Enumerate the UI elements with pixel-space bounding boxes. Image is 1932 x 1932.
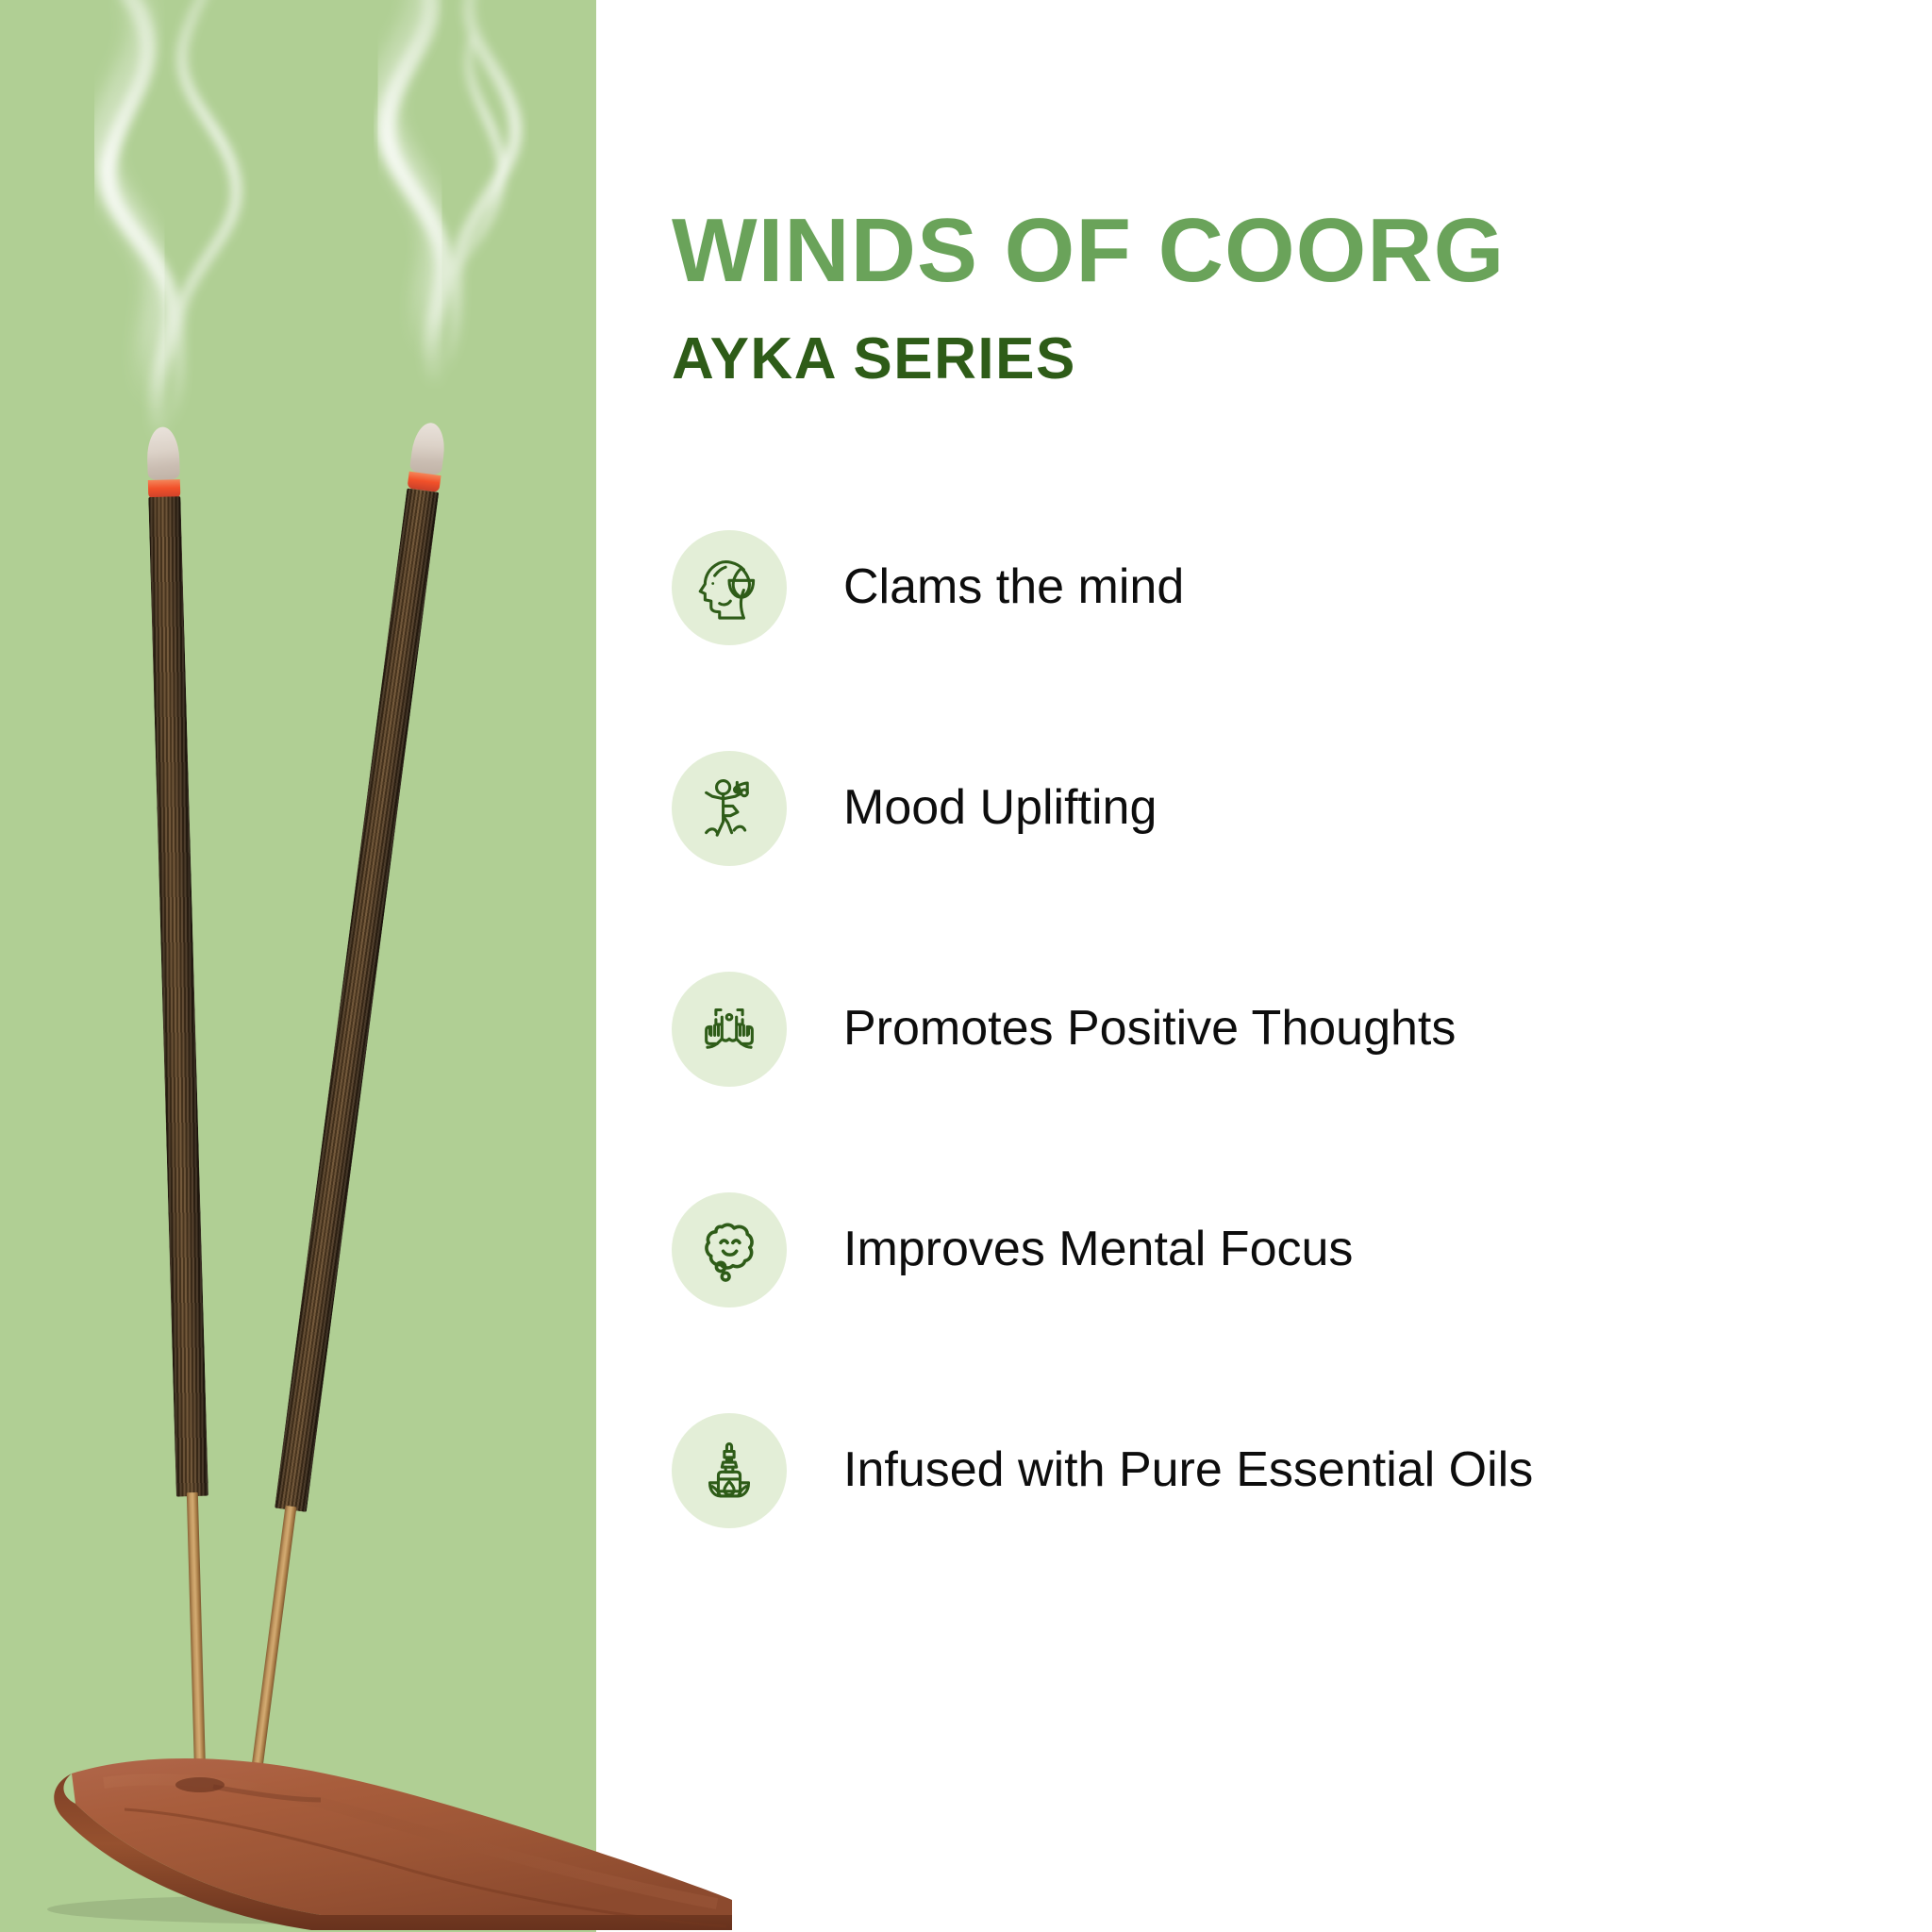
- ash-tip-left: [146, 426, 180, 499]
- incense-stick-left: [146, 426, 217, 1804]
- hands-framing-icon: [672, 972, 787, 1087]
- product-banner: WINDS OF COORG AYKA SERIES Clams th: [0, 0, 1932, 1932]
- ash-tip-right: [407, 421, 447, 492]
- stick-body-left: [148, 496, 208, 1497]
- stick-bamboo-right: [247, 1506, 297, 1805]
- list-item: Clams the mind: [672, 530, 1932, 645]
- stick-body-right: [275, 489, 439, 1512]
- head-lotus-icon: [672, 530, 787, 645]
- page-title: WINDS OF COORG: [672, 206, 1505, 296]
- page-subtitle: AYKA SERIES: [672, 330, 1076, 389]
- content-column: WINDS OF COORG AYKA SERIES Clams th: [672, 0, 1932, 1932]
- list-item: Improves Mental Focus: [672, 1192, 1932, 1307]
- ash-right: [409, 421, 448, 475]
- smiling-brain-thought-icon: [672, 1192, 787, 1307]
- list-item: Mood Uplifting: [672, 751, 1932, 866]
- stick-bamboo-left: [187, 1492, 208, 1819]
- feature-label: Infused with Pure Essential Oils: [843, 1443, 1533, 1497]
- incense-stick-right: [236, 421, 447, 1809]
- left-green-panel: [0, 0, 596, 1932]
- dancing-person-music-icon: [672, 751, 787, 866]
- feature-label: Mood Uplifting: [843, 781, 1157, 835]
- list-item: Infused with Pure Essential Oils: [672, 1413, 1932, 1528]
- list-item: Promotes Positive Thoughts: [672, 972, 1932, 1087]
- smoke-wisps: [0, 0, 596, 1932]
- feature-label: Improves Mental Focus: [843, 1223, 1353, 1276]
- ash-left: [146, 426, 180, 480]
- oil-dropper-bottle-leaves-icon: [672, 1413, 787, 1528]
- feature-list: Clams the mind: [672, 530, 1932, 1528]
- feature-label: Clams the mind: [843, 560, 1184, 614]
- feature-label: Promotes Positive Thoughts: [843, 1002, 1456, 1056]
